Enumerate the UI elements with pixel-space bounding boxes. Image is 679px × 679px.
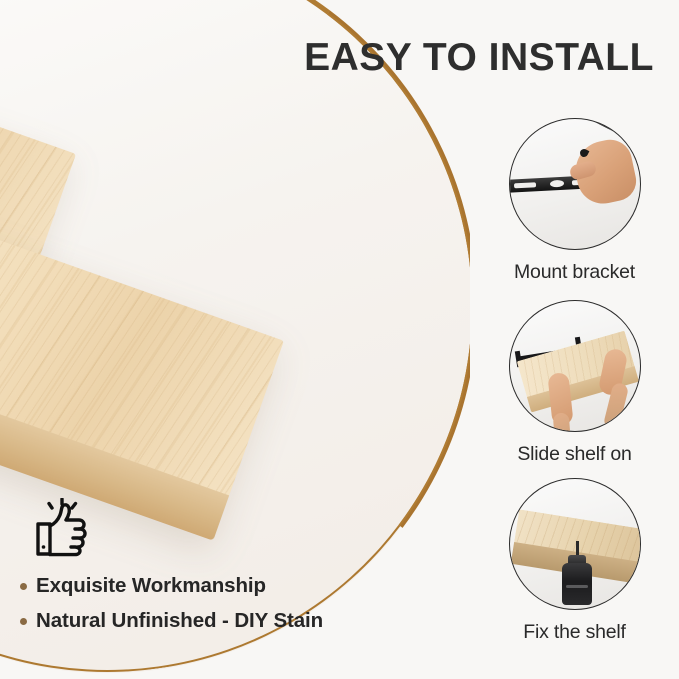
list-item: Natural Unfinished - DIY Stain [20, 609, 380, 633]
feature-text: Natural Unfinished - DIY Stain [36, 609, 323, 633]
features-block: Exquisite Workmanship Natural Unfinished… [20, 498, 380, 644]
step-photo-slide-shelf [509, 300, 641, 432]
thumbs-up-icon [30, 498, 94, 560]
product-infographic: EASY TO INSTALL Exquisite Workmanship [0, 0, 679, 679]
bracket-hole [549, 180, 563, 188]
feature-text: Exquisite Workmanship [36, 574, 266, 598]
list-item: Exquisite Workmanship [20, 574, 380, 598]
bracket-slot [513, 182, 535, 188]
install-steps: Mount bracket Slide shelf on [470, 0, 679, 679]
step-photo-fix-shelf [509, 478, 641, 610]
bullet-dot-icon [20, 583, 27, 590]
step-label: Fix the shelf [470, 621, 679, 644]
step-label: Slide shelf on [470, 443, 679, 466]
power-drill [562, 563, 592, 605]
step-photo-mount-bracket [509, 118, 641, 250]
thumb-knuckle-dot [42, 545, 46, 549]
step-slide-shelf-on: Slide shelf on [470, 300, 679, 466]
step-label: Mount bracket [470, 261, 679, 284]
bullet-dot-icon [20, 618, 27, 625]
step-fix-the-shelf: Fix the shelf [470, 478, 679, 644]
step-mount-bracket: Mount bracket [470, 118, 679, 284]
feature-list: Exquisite Workmanship Natural Unfinished… [20, 574, 380, 633]
